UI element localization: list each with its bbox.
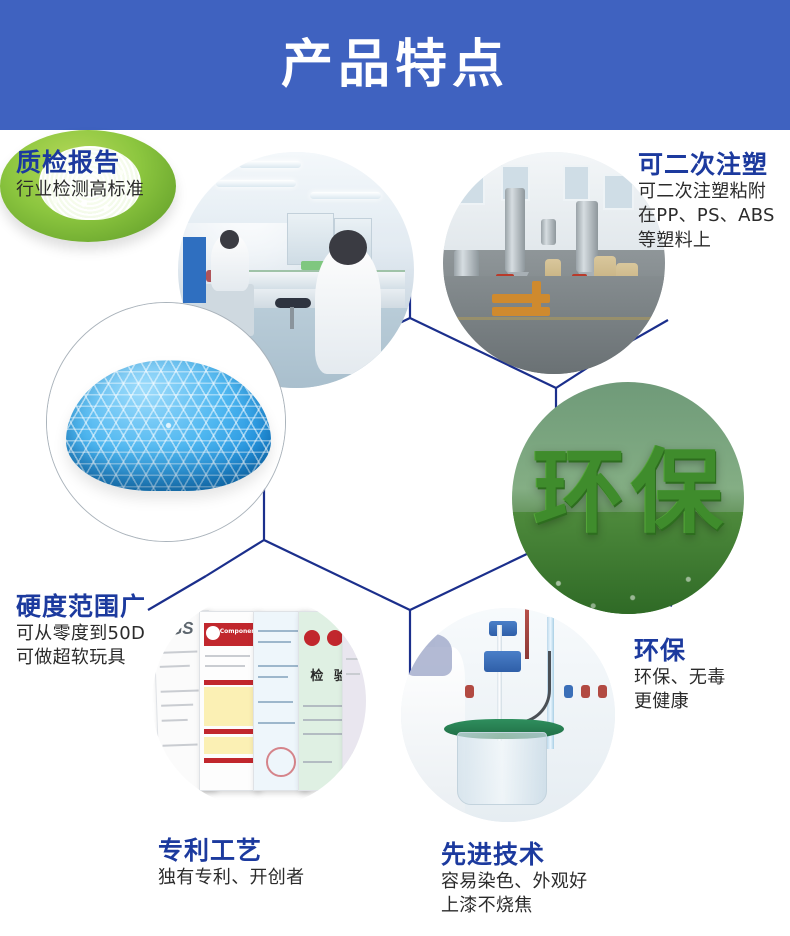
- feature-quality-report[interactable]: 质检报告 行业检测高标准: [16, 148, 144, 202]
- feature-subtitle-environmental-line-2: 更健康: [634, 690, 726, 715]
- feature-title-quality-report: 质检报告: [16, 148, 144, 178]
- feature-subtitle-quality-report-line-1: 行业检测高标准: [16, 178, 144, 203]
- page-title: 产品特点: [281, 39, 509, 91]
- feature-subtitle-advanced-technology-line-2: 上漆不烧焦: [441, 894, 587, 919]
- feature-subtitle-advanced-technology-line-1: 容易染色、外观好: [441, 870, 587, 895]
- feature-title-overmolding: 可二次注塑: [638, 150, 775, 180]
- certificates-photo: SGS Component: [152, 594, 366, 808]
- feature-subtitle-hardness-range-line-1: 可从零度到50D: [16, 622, 146, 647]
- feature-title-hardness-range: 硬度范围广: [16, 592, 146, 622]
- lab-reactor-photo: [401, 608, 615, 822]
- sgs-label: SGS: [158, 619, 195, 640]
- page-header-banner: 产品特点: [0, 0, 790, 130]
- feature-overmolding[interactable]: 可二次注塑 可二次注塑粘附 在PP、PS、ABS 等塑料上: [638, 150, 775, 254]
- feature-environmental[interactable]: 环保 环保、无毒 更健康: [634, 636, 726, 715]
- feature-subtitle-overmolding-line-3: 等塑料上: [638, 229, 775, 254]
- gel-honeycomb-cushion-photo: [46, 302, 286, 542]
- feature-advanced-technology[interactable]: 先进技术 容易染色、外观好 上漆不烧焦: [441, 840, 587, 919]
- feature-title-advanced-technology: 先进技术: [441, 840, 587, 870]
- feature-title-environmental: 环保: [634, 636, 726, 666]
- feature-subtitle-environmental-line-1: 环保、无毒: [634, 666, 726, 691]
- eco-letter-1: 环: [533, 447, 625, 539]
- feature-title-patented-process: 专利工艺: [158, 836, 304, 866]
- feature-subtitle-overmolding-line-1: 可二次注塑粘附: [638, 180, 775, 205]
- feature-subtitle-overmolding-line-2: 在PP、PS、ABS: [638, 204, 775, 229]
- product-features-page: 产品特点: [0, 0, 790, 936]
- factory-equipment-photo: [443, 152, 665, 374]
- green-eco-letters-photo: 环 保: [512, 382, 744, 614]
- feature-patented-process[interactable]: 专利工艺 独有专利、开创者: [158, 836, 304, 890]
- feature-subtitle-patented-process-line-1: 独有专利、开创者: [158, 866, 304, 891]
- feature-hardness-range[interactable]: 硬度范围广 可从零度到50D 可做超软玩具: [16, 592, 146, 671]
- eco-letter-group: 环 保: [512, 428, 744, 558]
- eco-letter-2: 保: [631, 447, 723, 539]
- feature-subtitle-hardness-range-line-2: 可做超软玩具: [16, 646, 146, 671]
